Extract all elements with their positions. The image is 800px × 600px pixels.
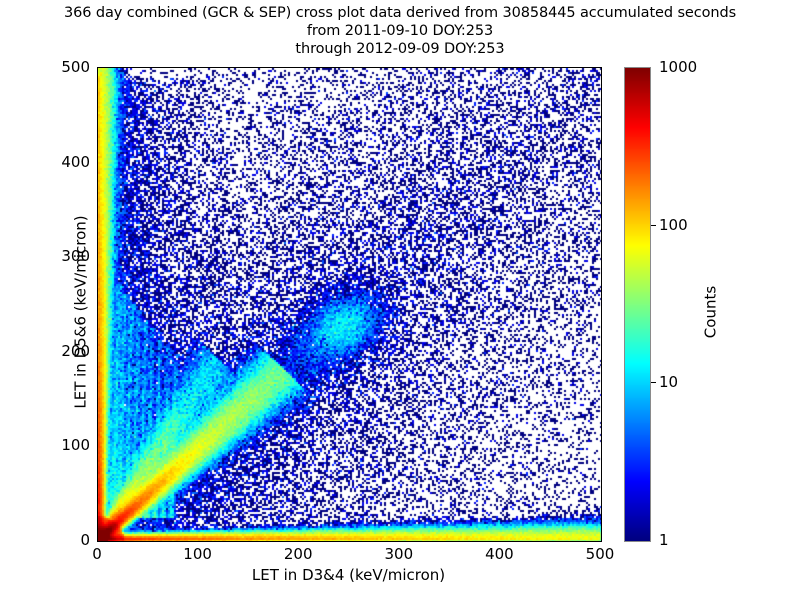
colorbar-gradient <box>625 68 650 541</box>
colorbar-label: Counts <box>702 76 720 549</box>
figure-canvas: 366 day combined (GCR & SEP) cross plot … <box>0 0 800 600</box>
x-tick-label-400: 400 <box>485 545 514 563</box>
colorbar[interactable] <box>624 67 651 542</box>
plot-area[interactable] <box>97 67 602 542</box>
colorbar-label-wrapper: Counts <box>700 67 720 540</box>
x-axis-label: LET in D3&4 (keV/micron) <box>97 566 600 584</box>
colorbar-tick-label-100: 100 <box>659 216 688 234</box>
colorbar-tick-label-1000: 1000 <box>659 58 697 76</box>
density-scatter-plot <box>98 68 601 541</box>
title-line-2: from 2011-09-10 DOY:253 <box>0 22 800 40</box>
x-tick-label-100: 100 <box>183 545 212 563</box>
title-line-1: 366 day combined (GCR & SEP) cross plot … <box>0 4 800 22</box>
title-line-3: through 2012-09-09 DOY:253 <box>0 40 800 58</box>
colorbar-tick-label-10: 10 <box>659 373 678 391</box>
x-tick-label-300: 300 <box>384 545 413 563</box>
x-tick-label-500: 500 <box>586 545 615 563</box>
x-axis-ticks: 0100200300400500 <box>97 545 600 567</box>
colorbar-tickmark <box>651 225 656 226</box>
chart-title: 366 day combined (GCR & SEP) cross plot … <box>0 4 800 58</box>
x-tick-label-0: 0 <box>92 545 102 563</box>
x-tick-label-200: 200 <box>284 545 313 563</box>
y-axis-label-wrapper: LET in D5&6 (keV/micron) <box>22 67 42 540</box>
y-axis-label: LET in D5&6 (keV/micron) <box>72 76 90 549</box>
colorbar-tick-label-1: 1 <box>659 531 669 549</box>
colorbar-tickmark <box>651 382 656 383</box>
y-tick-label-500: 500 <box>61 58 90 76</box>
